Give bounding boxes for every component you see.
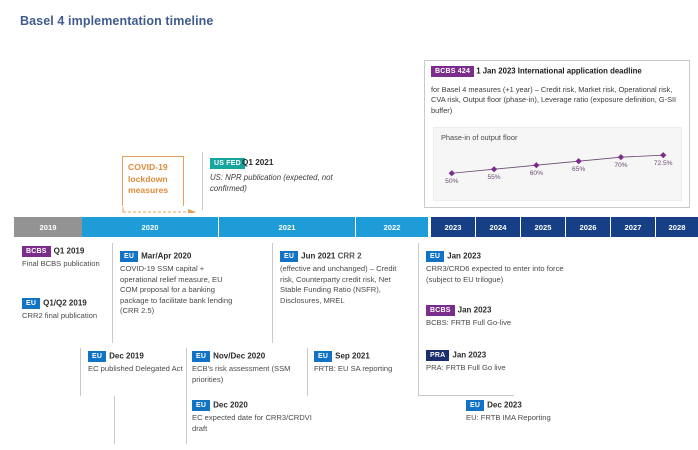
entry-body: BCBS: FRTB Full Go-live [426,318,592,329]
us-fed-body: US: NPR publication (expected, not confi… [210,172,334,194]
chart-marker-2024 [491,166,497,172]
chart-label-2025: 60% [530,170,543,177]
timeline-entry-bcbs-q1-2019[interactable]: BCBSQ1 2019Final BCBS publication [22,246,108,270]
entry-date: Jan 2023 [447,252,481,261]
chart-marker-2028 [660,152,666,158]
year-cell-2022[interactable]: 2022 [356,217,428,237]
connector-rule-2 [272,243,273,343]
chart-marker-2026 [575,158,581,164]
entry-body: PRA: FRTB Full Go live [426,363,592,374]
entry-body: EC expected date for CRR3/CRDVI draft [192,413,312,434]
year-cell-label: 2024 [490,223,507,232]
timeline-entry-pra-jan-2023[interactable]: PRAJan 2023PRA: FRTB Full Go live [426,350,592,374]
entry-date: Dec 2023 [487,401,522,410]
year-cell-2024[interactable]: 2024 [476,217,520,237]
entry-header: EUMar/Apr 2020 [120,251,242,262]
timeline-entry-eu-mar-apr-2020[interactable]: EUMar/Apr 2020COVID-19 SSM capital + ope… [120,251,242,317]
entry-header: EUSep 2021 [314,351,414,362]
entry-date: Q1/Q2 2019 [43,299,87,308]
output-floor-chart: Phase-in of output floor 50%55%60%65%70%… [433,127,682,201]
connector-rule-7 [418,353,419,395]
bcbs-424-callout: BCBS 424 1 Jan 2023 International applic… [424,60,690,208]
chart-label-2024: 55% [487,174,500,181]
badge-us-fed: US FED [210,158,245,169]
entry-header: EUNov/Dec 2020 [192,351,304,362]
year-cell-2027[interactable]: 2027 [611,217,655,237]
badge-bcbs-424: BCBS 424 [431,66,474,77]
connector-rule-4 [80,348,81,396]
badge-eu: EU [192,400,210,411]
entry-body: COVID-19 SSM capital + operational relie… [120,264,242,317]
entry-date: Dec 2020 [213,401,248,410]
badge-eu: EU [22,298,40,309]
badge-eu: EU [120,251,138,262]
entry-date: Nov/Dec 2020 [213,352,265,361]
timeline-entry-eu-jun-2021[interactable]: EUJun 2021 CRR 2(effective and unchanged… [280,251,398,306]
chart-label-2026: 65% [572,166,585,173]
entry-header: BCBSJan 2023 [426,305,592,316]
covid-dashed-arrow-icon [122,203,202,213]
connector-rule-9 [114,396,115,444]
callout-body: for Basel 4 measures (+1 year) – Credit … [431,85,683,116]
infographic-root: Basel 4 implementation timeline BCBS 424… [0,0,698,450]
year-cell-label: 2019 [40,223,57,232]
entry-date: Q1 2019 [54,247,85,256]
year-cell-label: 2028 [669,223,686,232]
entry-body: CRR2 final publication [22,311,108,322]
connector-rule-3 [418,243,419,353]
chart-label-2027: 70% [614,162,627,169]
badge-bcbs: BCBS [426,305,455,316]
entry-header: EUQ1/Q2 2019 [22,298,108,309]
year-cell-label: 2020 [142,223,159,232]
year-cell-2028[interactable]: 2028 [656,217,698,237]
badge-eu: EU [88,351,106,362]
year-cell-label: 2023 [445,223,462,232]
entry-header: EUJun 2021 CRR 2 [280,251,398,262]
chart-marker-2023 [449,170,455,176]
chart-svg [434,128,681,200]
entry-date: Mar/Apr 2020 [141,252,191,261]
chart-marker-2025 [533,162,539,168]
entry-header: EUDec 2023 [466,400,596,411]
entry-date: Jun 2021 [301,252,335,261]
year-cell-label: 2021 [279,223,296,232]
connector-rule-8 [418,395,514,396]
badge-pra: PRA [426,350,449,361]
badge-eu: EU [314,351,332,362]
badge-eu: EU [426,251,444,262]
entry-body: CRR3/CRD6 expected to enter into force (… [426,264,592,285]
entry-header: EUDec 2019 [88,351,184,362]
callout-headline-row: BCBS 424 1 Jan 2023 International applic… [431,66,684,77]
chart-marker-2027 [618,154,624,160]
connector-rule-1 [112,243,113,343]
usfed-left-rule [202,152,203,210]
year-cell-2019[interactable]: 2019 [14,217,82,237]
timeline-entry-eu-dec-2019[interactable]: EUDec 2019EC published Delegated Act [88,351,184,375]
us-fed-date: Q1 2021 [242,158,273,167]
year-cell-label: 2025 [535,223,552,232]
year-cell-label: 2027 [625,223,642,232]
entry-date: Dec 2019 [109,352,144,361]
covid-lockdown-label: COVID-19 lockdown measures [128,162,186,197]
chart-label-2028: 72.5% [654,160,673,167]
callout-headline: 1 Jan 2023 International application dea… [476,67,642,76]
timeline-entry-eu-nov-dec-2020[interactable]: EUNov/Dec 2020ECB's risk assessment (SSM… [192,351,304,385]
entry-date: Jan 2023 [458,306,492,315]
entry-header: PRAJan 2023 [426,350,592,361]
year-cell-2025[interactable]: 2025 [521,217,565,237]
entry-header: EUDec 2020 [192,400,312,411]
entry-header: EUJan 2023 [426,251,592,262]
badge-bcbs: BCBS [22,246,51,257]
covid-lockdown-box: COVID-19 lockdown measures [122,156,184,206]
year-cell-2023[interactable]: 2023 [431,217,475,237]
entry-header: BCBSQ1 2019 [22,246,108,257]
year-cell-2020[interactable]: 2020 [82,217,218,237]
us-fed-box: US FED Q1 2021 US: NPR publication (expe… [210,158,334,206]
entry-body: (effective and unchanged) – Credit risk,… [280,264,398,306]
timeline-entry-eu-dec-2023[interactable]: EUDec 2023EU: FRTB IMA Reporting [466,400,596,424]
page-title: Basel 4 implementation timeline [20,14,213,28]
timeline-entry-bcbs-jan-2023[interactable]: BCBSJan 2023BCBS: FRTB Full Go-live [426,305,592,329]
entry-body: EC published Delegated Act [88,364,184,375]
badge-eu: EU [280,251,298,262]
timeline-entry-eu-q1q2-2019[interactable]: EUQ1/Q2 2019CRR2 final publication [22,298,108,322]
timeline-entry-eu-jan-2023[interactable]: EUJan 2023CRR3/CRD6 expected to enter in… [426,251,592,285]
year-cell-2026[interactable]: 2026 [566,217,610,237]
entry-body: EU: FRTB IMA Reporting [466,413,596,424]
connector-rule-5 [186,348,187,444]
entry-date: Sep 2021 [335,352,370,361]
badge-eu: EU [192,351,210,362]
timeline-entry-eu-dec-2020[interactable]: EUDec 2020EC expected date for CRR3/CRDV… [192,400,312,434]
connector-rule-6 [307,348,308,396]
badge-eu: EU [466,400,484,411]
year-cell-label: 2026 [580,223,597,232]
entry-body: FRTB: EU SA reporting [314,364,414,375]
entry-body: ECB's risk assessment (SSM priorities) [192,364,304,385]
year-cell-label: 2022 [384,223,401,232]
entry-body: Final BCBS publication [22,259,108,270]
year-cell-2021[interactable]: 2021 [219,217,355,237]
timeline-entry-eu-sep-2021[interactable]: EUSep 2021FRTB: EU SA reporting [314,351,414,375]
chart-label-2023: 50% [445,178,458,185]
entry-date-suffix: CRR 2 [335,252,361,261]
entry-date: Jan 2023 [452,351,486,360]
